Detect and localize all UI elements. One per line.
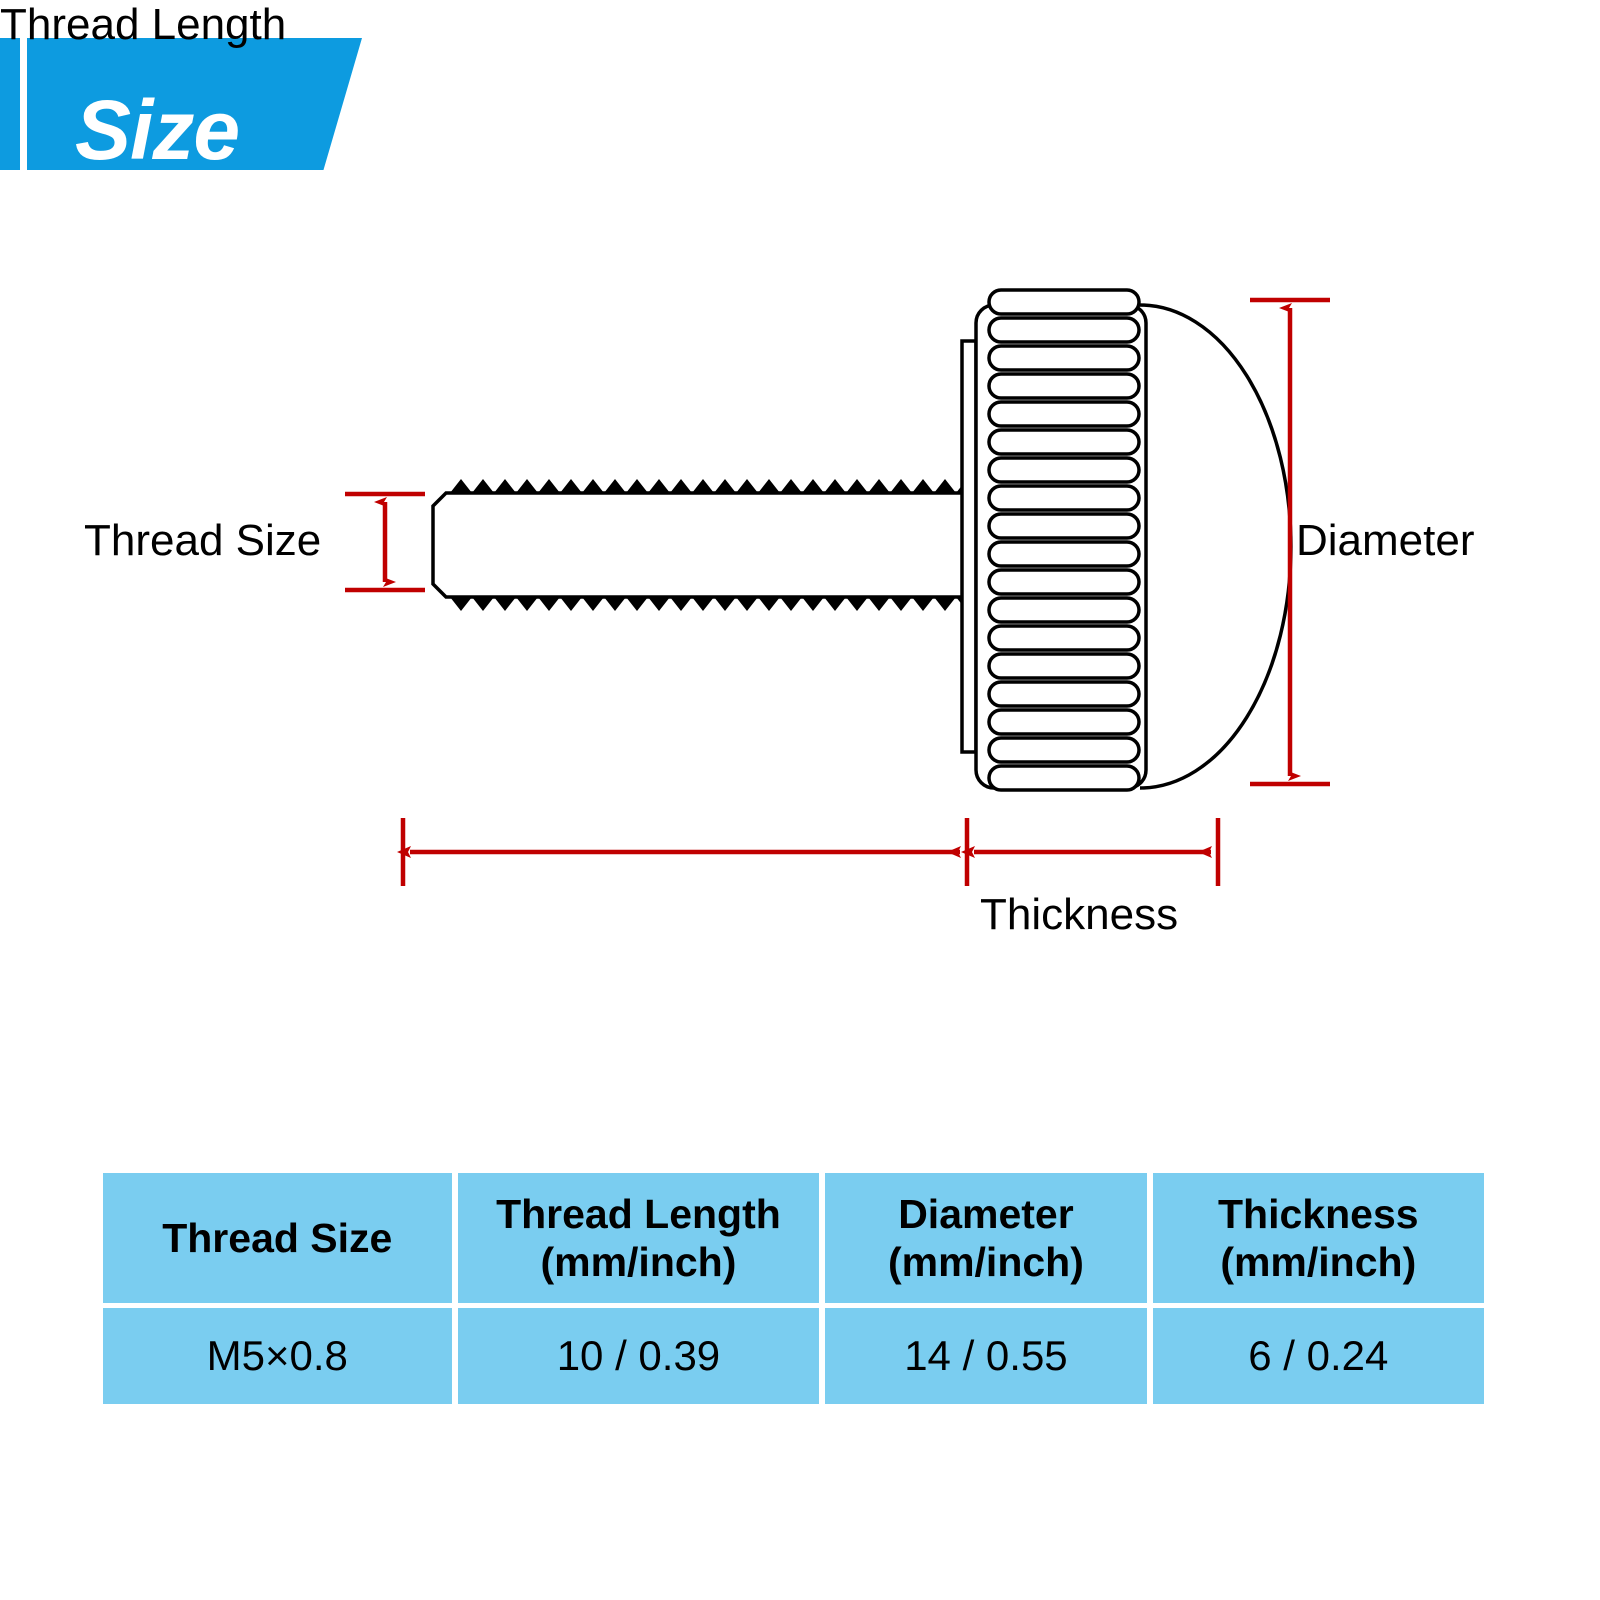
header-line-2: (mm/inch) xyxy=(1153,1238,1484,1286)
header-line-1: Diameter xyxy=(825,1190,1146,1238)
cell-thread-length: 10 / 0.39 xyxy=(458,1308,820,1404)
table-header-row: Thread Size Thread Length (mm/inch) Diam… xyxy=(103,1173,1484,1303)
table-header-thickness: Thickness (mm/inch) xyxy=(1153,1173,1484,1303)
dimension-thread-length xyxy=(403,818,967,886)
thread-teeth-bottom xyxy=(450,597,978,611)
cell-thread-size: M5×0.8 xyxy=(103,1308,452,1404)
thread-teeth-top xyxy=(450,479,978,493)
header-line-2: (mm/inch) xyxy=(825,1238,1146,1286)
table-header-thread-length: Thread Length (mm/inch) xyxy=(458,1173,820,1303)
table-row: M5×0.8 10 / 0.39 14 / 0.55 6 / 0.24 xyxy=(103,1308,1484,1404)
label-thread-length: Thread Length xyxy=(0,0,286,50)
label-thread-size: Thread Size xyxy=(84,516,321,566)
dimension-thickness xyxy=(974,818,1218,886)
label-thickness: Thickness xyxy=(980,890,1178,940)
header-line-2: (mm/inch) xyxy=(458,1238,820,1286)
head-disc-profile xyxy=(1140,305,1291,788)
table-header-thread-size: Thread Size xyxy=(103,1173,452,1303)
head-left-lip xyxy=(962,341,976,752)
header-line-1: Thread Size xyxy=(103,1214,452,1262)
cell-diameter: 14 / 0.55 xyxy=(825,1308,1146,1404)
cell-thickness: 6 / 0.24 xyxy=(1153,1308,1484,1404)
knurled-head xyxy=(962,290,1291,790)
header-line-1: Thread Length xyxy=(458,1190,820,1238)
label-diameter: Diameter xyxy=(1296,516,1475,566)
spec-table: Thread Size Thread Length (mm/inch) Diam… xyxy=(97,1168,1490,1409)
dimension-thread-size xyxy=(345,494,425,590)
header-line-1: Thickness xyxy=(1153,1190,1484,1238)
table-header-diameter: Diameter (mm/inch) xyxy=(825,1173,1146,1303)
screw-shaft xyxy=(433,479,980,611)
